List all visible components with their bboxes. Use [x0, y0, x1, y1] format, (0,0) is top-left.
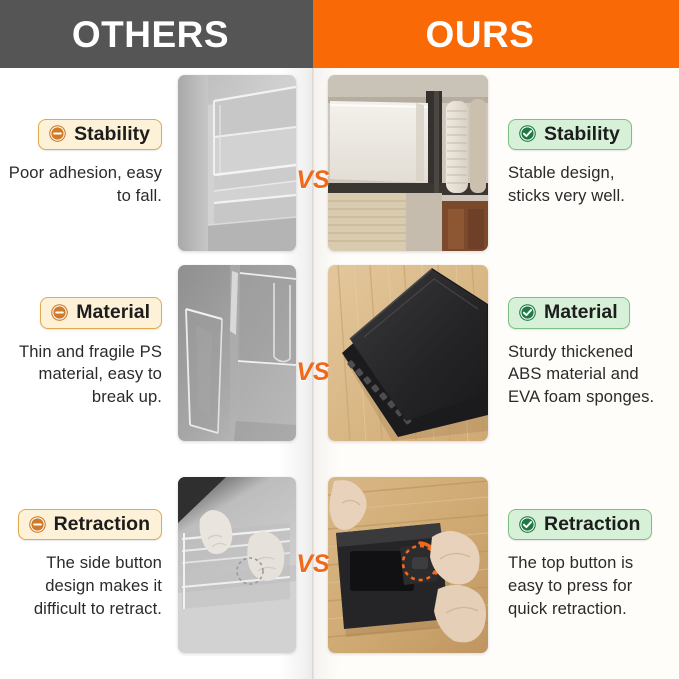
- vs-marker-material: VS: [295, 360, 331, 385]
- badge-others-retraction: Retraction: [18, 509, 162, 540]
- row-stability-ours: Stability Stable design, sticks very wel…: [313, 68, 679, 258]
- vs-marker-retraction: VS: [295, 552, 331, 577]
- comparison-infographic: OTHERS OURS Stability Poor adhesion, eas…: [0, 0, 679, 679]
- minus-circle-icon: [28, 515, 47, 534]
- row-retraction-others: Retraction The side button design makes …: [0, 450, 313, 679]
- row-retraction-ours: Retraction The top button is easy to pre…: [313, 450, 679, 679]
- header-ours: OURS: [313, 0, 679, 68]
- badge-ours-stability: Stability: [508, 119, 632, 150]
- vs-marker-stability: VS: [295, 168, 331, 193]
- comparison-row-material: Material Thin and fragile PS material, e…: [0, 258, 679, 448]
- check-circle-icon: [518, 303, 537, 322]
- badge-others-retraction-label: Retraction: [54, 514, 150, 534]
- header-ours-title: OURS: [426, 16, 535, 53]
- photo-ours-stability-art: [328, 75, 488, 251]
- row-material-ours: Material Sturdy thickened ABS material a…: [313, 258, 679, 448]
- header-others: OTHERS: [0, 0, 313, 68]
- row-stability-others: Stability Poor adhesion, easy to fall.: [0, 68, 313, 258]
- desc-ours-material: Sturdy thickened ABS material and EVA fo…: [508, 341, 660, 409]
- badge-ours-retraction-label: Retraction: [544, 514, 640, 534]
- desc-others-stability: Poor adhesion, easy to fall.: [6, 162, 162, 207]
- row-material-others: Material Thin and fragile PS material, e…: [0, 258, 313, 448]
- desc-ours-stability: Stable design, sticks very well.: [508, 162, 660, 207]
- row-retraction-others-copy: Retraction The side button design makes …: [0, 509, 178, 620]
- row-material-ours-copy: Material Sturdy thickened ABS material a…: [488, 297, 666, 408]
- badge-others-material: Material: [40, 297, 162, 328]
- photo-ours-hands-pressing-top-button: [328, 477, 488, 653]
- minus-circle-icon: [50, 303, 69, 322]
- photo-others-retraction-art: [178, 477, 296, 653]
- photo-ours-material-art: [328, 265, 488, 441]
- photo-others-cracked-clear-plastic: [178, 265, 296, 441]
- badge-ours-material: Material: [508, 297, 630, 328]
- badge-ours-material-label: Material: [544, 302, 618, 322]
- comparison-header: OTHERS OURS: [0, 0, 679, 68]
- header-others-title: OTHERS: [72, 16, 229, 53]
- photo-others-material-art: [178, 265, 296, 441]
- badge-others-material-label: Material: [76, 302, 150, 322]
- row-stability-ours-copy: Stability Stable design, sticks very wel…: [488, 119, 666, 208]
- badge-ours-retraction: Retraction: [508, 509, 652, 540]
- photo-others-clear-acrylic-drawer: [178, 75, 296, 251]
- minus-circle-icon: [48, 124, 67, 143]
- photo-ours-black-abs-panel-on-wood: [328, 265, 488, 441]
- row-stability-others-copy: Stability Poor adhesion, easy to fall.: [0, 119, 178, 208]
- desc-others-material: Thin and fragile PS material, easy to br…: [6, 341, 162, 409]
- comparison-row-retraction: Retraction The side button design makes …: [0, 450, 679, 679]
- desc-others-retraction: The side button design makes it difficul…: [6, 552, 162, 620]
- row-retraction-ours-copy: Retraction The top button is easy to pre…: [488, 509, 666, 620]
- photo-others-stability-art: [178, 75, 296, 251]
- badge-ours-stability-label: Stability: [544, 124, 620, 144]
- badge-others-stability: Stability: [38, 119, 162, 150]
- check-circle-icon: [518, 515, 537, 534]
- desc-ours-retraction: The top button is easy to press for quic…: [508, 552, 660, 620]
- row-material-others-copy: Material Thin and fragile PS material, e…: [0, 297, 178, 408]
- comparison-row-stability: Stability Poor adhesion, easy to fall.: [0, 68, 679, 258]
- badge-others-stability-label: Stability: [74, 124, 150, 144]
- photo-others-hands-pulling-clear-drawer: [178, 477, 296, 653]
- photo-ours-retraction-art: [328, 477, 488, 653]
- check-circle-icon: [518, 124, 537, 143]
- photo-ours-black-organizer-with-towels: [328, 75, 488, 251]
